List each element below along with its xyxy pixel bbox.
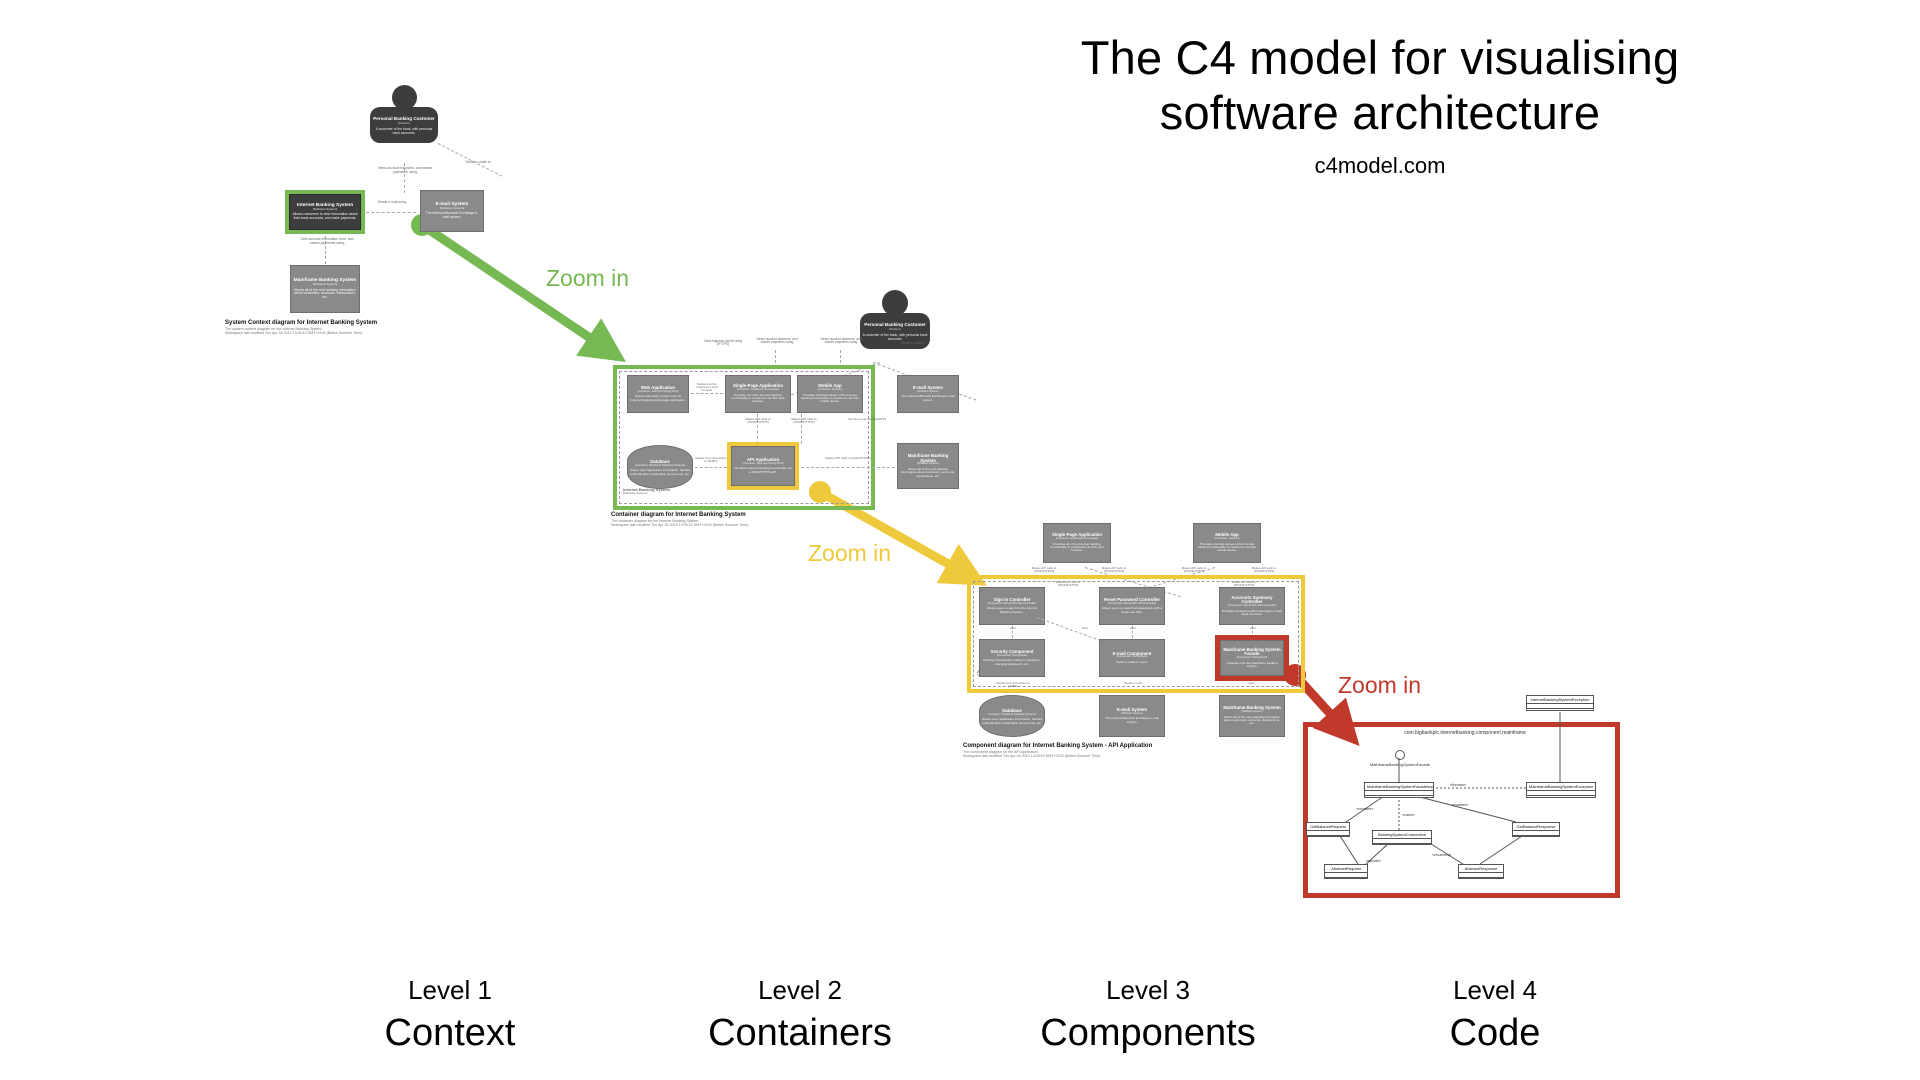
- box-type: [Container: Relational Database Schema]: [635, 464, 684, 467]
- rel-label-views-balances: Views account balances, and makes paymen…: [375, 167, 435, 174]
- box-type: [Container: Xamarin]: [818, 389, 843, 392]
- box-type: [Container: JavaScript and Angular]: [1056, 538, 1098, 541]
- level-name: Context: [320, 1012, 580, 1055]
- uml-class-mainframebankingsystemfacadeimpl[interactable]: MainframeBankingSystemFacadeImpl: [1364, 782, 1434, 798]
- uml-row: [1365, 796, 1433, 800]
- box-description: Sends e-mails to users.: [1116, 661, 1148, 664]
- uml-class-name: MainframeBankingSystemFacadeImpl: [1365, 783, 1433, 791]
- box-email-component[interactable]: E-mail Component [Component: Spring Bean…: [1099, 639, 1165, 677]
- rel-label-api-calls-mainframe: Makes API calls to [XML/HTTPS]: [821, 457, 875, 460]
- person-description: A customer of the bank, with personal ba…: [862, 333, 928, 341]
- rel-label-uses-5: Uses: [1241, 682, 1261, 685]
- rel-line-3: [366, 212, 416, 213]
- uml-rel-uses: «uses»: [1402, 812, 1415, 817]
- boundary-label-internet-banking-system: Internet Banking System [Software System…: [623, 488, 670, 496]
- box-web-application[interactable]: Web Application [Container: Java and Spr…: [627, 375, 689, 413]
- uml-class-abstractrequest[interactable]: AbstractRequest: [1324, 864, 1368, 879]
- level-number: Level 4: [1365, 975, 1625, 1006]
- person-body: Personal Banking Customer [Person] A cus…: [370, 107, 438, 143]
- rel-label-uses-1: Uses: [1003, 627, 1023, 630]
- box-type: [Software System]: [1241, 711, 1262, 714]
- uml-rel-sends: «sends»: [1366, 858, 1381, 863]
- box-description: The internal Microsoft Exchange e-mail s…: [1102, 717, 1162, 724]
- rel-label-api-4: Makes API calls to [JSON/HTTPS]: [1243, 567, 1285, 573]
- uml-row: [1325, 878, 1367, 882]
- caption-title: System Context diagram for Internet Bank…: [225, 320, 525, 326]
- uml-class-name: GetBalanceRequest: [1307, 823, 1349, 831]
- rel-label-sends-emails-to: Sends e-mails to: [450, 161, 506, 165]
- box-type: [Component: Spring MVC Rest Controller]: [988, 603, 1036, 606]
- uml-class-getbalanceresponse[interactable]: GetBalanceResponse: [1512, 822, 1560, 837]
- box-type: [Container: Relational Database Schema]: [988, 713, 1036, 716]
- box-type: [Container: Java and Spring MVC]: [638, 391, 679, 394]
- rel-label-delivers-to-browser: Delivers to the customer's web browser: [691, 383, 723, 393]
- box-type: [Component: Spring Bean]: [1237, 657, 1268, 660]
- uml-row: [1307, 836, 1349, 840]
- box-api-application-l2[interactable]: API Application [Container: Java and Spr…: [731, 446, 795, 486]
- box-description: Provides all of the Internet banking fun…: [1046, 543, 1108, 553]
- level3-caption: Component diagram for Internet Banking S…: [963, 743, 1303, 758]
- uml-row: [1373, 844, 1431, 848]
- rel-label-sends-emails-to-l2: Sends e-mails to: [889, 342, 937, 345]
- box-type: [Software System]: [313, 208, 337, 211]
- site-url: c4model.com: [1010, 153, 1750, 179]
- box-single-page-application-l3[interactable]: Single-Page Application [Container: Java…: [1043, 523, 1111, 563]
- box-description: Provides a limited subset of the Interne…: [1196, 543, 1258, 553]
- level-number: Level 2: [670, 975, 930, 1006]
- box-type: [Software System]: [1121, 713, 1142, 716]
- uml-class-mainframebankingsystemexception[interactable]: MainframeBankingSystemException: [1526, 782, 1596, 798]
- title-block: The C4 model for visualising software ar…: [1010, 30, 1750, 179]
- rel-label-uses-4: Uses: [1243, 627, 1263, 630]
- rel-label-uses-3: Uses: [1123, 627, 1143, 630]
- box-description: A facade onto the mainframe banking syst…: [1223, 662, 1281, 669]
- box-type: [Software System]: [440, 207, 464, 210]
- box-mobile-app-l3[interactable]: Mobile App [Container: Xamarin] Provides…: [1193, 523, 1261, 563]
- box-email-system-l3[interactable]: E-mail System [Software System] The inte…: [1099, 695, 1165, 737]
- uml-class-name: MainframeBankingSystemException: [1527, 783, 1595, 791]
- level2-caption: Container diagram for Internet Banking S…: [611, 512, 941, 527]
- rel-label-sends-email-using: Sends e-mail using: [370, 201, 414, 205]
- box-description: Delivers the static content and the Inte…: [630, 395, 686, 402]
- caption-sub2: Workspace last modified Thu Apr 04 2019 …: [611, 523, 941, 527]
- rel-label-api-1: Makes API calls to [JSON/HTTPS]: [1023, 567, 1065, 573]
- rel-label-reads-writes: Reads from and writes to [JDBC]: [695, 457, 727, 463]
- box-mainframe-banking-system-l3[interactable]: Mainframe Banking System [Software Syste…: [1219, 695, 1285, 737]
- rel-label-api-calls-2: Makes API calls to [JSON/HTTPS]: [781, 418, 827, 424]
- box-email-system-l1[interactable]: E-mail System [Software System] The inte…: [420, 190, 484, 232]
- box-type: [Component: Spring MVC Rest Controller]: [1108, 603, 1156, 606]
- level-name: Components: [1018, 1012, 1278, 1055]
- level1-context-diagram[interactable]: Personal Banking Customer [Person] A cus…: [270, 85, 560, 335]
- person-type: [Person]: [889, 327, 900, 331]
- rel-label-gets-account-info: Gets account information from, and makes…: [298, 238, 356, 245]
- rel-label-api-calls-1: Makes API calls to [JSON/HTTPS]: [735, 418, 781, 424]
- box-description: Provides all of the Internet banking fun…: [728, 394, 788, 404]
- box-description: The internal Microsoft Exchange e-mail s…: [423, 212, 481, 219]
- rel-line-h: [695, 467, 727, 468]
- box-description: Allows users to reset their passwords wi…: [1102, 607, 1162, 614]
- level-label-1: Level 1 Context: [320, 975, 580, 1055]
- box-type: [Component: Spring Bean]: [1117, 656, 1148, 659]
- boundary-type: [Software System]: [623, 492, 670, 495]
- box-description: Stores all of the core banking informati…: [293, 289, 357, 300]
- caption-title: Component diagram for Internet Banking S…: [963, 743, 1303, 749]
- level-number: Level 1: [320, 975, 580, 1006]
- uml-class-getbalancerequest[interactable]: GetBalanceRequest: [1306, 822, 1350, 837]
- uml-rel-receives: «receives»: [1432, 852, 1451, 857]
- caption-sub2: Workspace last modified Thu Apr 04 2019 …: [225, 331, 525, 335]
- box-description: Stores all of the core banking informati…: [1222, 716, 1282, 726]
- uml-class-name: GetBalanceResponse: [1513, 823, 1559, 831]
- box-type: [Software System]: [313, 283, 337, 286]
- uml-class-name: AbstractRequest: [1325, 865, 1367, 873]
- rel-label-visits-bigbank: Visits bigbank.com/ib using [HTTPS]: [701, 340, 745, 347]
- box-type: [Component: Spring MVC Rest Controller]: [1228, 605, 1276, 608]
- rel-label-reads-writes-l3: Reads from and writes to [JDBC]: [993, 682, 1033, 688]
- caption-title: Container diagram for Internet Banking S…: [611, 512, 941, 518]
- box-description: Provides customers with a summary of the…: [1222, 610, 1282, 617]
- level-label-2: Level 2 Containers: [670, 975, 930, 1055]
- uml-rel-parses: «parses»: [1452, 802, 1468, 807]
- box-type: [Software System]: [917, 463, 939, 466]
- box-mainframe-banking-system-l1[interactable]: Mainframe Banking System [Software Syste…: [290, 265, 360, 313]
- box-description: Stores user registration information, ha…: [630, 468, 690, 476]
- title-line-2: software architecture: [1010, 85, 1750, 140]
- box-single-page-application-l2[interactable]: Single-Page Application [Container: Java…: [725, 375, 791, 413]
- box-description: Provides a limited subset of the Interne…: [800, 394, 860, 404]
- box-description: Stores user registration information, ha…: [982, 717, 1042, 725]
- box-description: Provides functionality related to signin…: [982, 659, 1042, 666]
- level2-container-diagram[interactable]: Personal Banking Customer [Person] A cus…: [605, 290, 995, 535]
- rel-label-views-balances-1: Views account balances, and makes paymen…: [753, 338, 801, 345]
- rel-label-sends-email-l3: Sends e-mail: [1113, 682, 1153, 685]
- uml-row: [1527, 796, 1595, 800]
- level4-code-diagram[interactable]: InternetBankingSystemException com.bigba…: [1280, 700, 1650, 940]
- level-number: Level 3: [1018, 975, 1278, 1006]
- level1-caption: System Context diagram for Internet Bank…: [225, 320, 525, 335]
- zoom-in-label-l3-l4: Zoom in: [1338, 672, 1421, 699]
- rel-line-i: [801, 467, 895, 468]
- uml-class-abstractresponse[interactable]: AbstractResponse: [1458, 864, 1504, 879]
- box-type: [Container: JavaScript and Angular]: [737, 389, 779, 392]
- level-name: Code: [1365, 1012, 1625, 1055]
- caption-sub2: Workspace last modified Thu Apr 04 2019 …: [963, 754, 1303, 758]
- box-security-component[interactable]: Security Component [Component: Spring Be…: [979, 639, 1045, 677]
- person-description: A customer of the bank, with personal ba…: [372, 127, 436, 135]
- box-internet-banking-system[interactable]: Internet Banking System [Software System…: [289, 194, 361, 230]
- level-label-4: Level 4 Code: [1365, 975, 1625, 1055]
- box-database-l2[interactable]: Database [Container: Relational Database…: [627, 445, 693, 489]
- uml-rel-throws: «throws»: [1450, 782, 1466, 787]
- box-email-system-l2[interactable]: E-mail System [Software System] The inte…: [897, 375, 959, 413]
- rel-label-uses-2: Uses: [1075, 627, 1095, 630]
- box-mainframe-banking-system-l2[interactable]: Mainframe Banking System [Software Syste…: [897, 443, 959, 489]
- person-type: [Person]: [398, 121, 409, 125]
- box-accounts-summary-controller[interactable]: Accounts Summary Controller [Component: …: [1219, 587, 1285, 625]
- person-personal-banking-customer[interactable]: Personal Banking Customer [Person] A cus…: [370, 85, 438, 143]
- box-type: [Component: Spring Bean]: [997, 655, 1028, 658]
- box-type: [Container: Java and Spring MVC]: [743, 463, 784, 466]
- box-type: [Software System]: [917, 391, 939, 394]
- box-description: The internal Microsoft Exchange e-mail s…: [900, 395, 956, 402]
- uml-class-name: AbstractResponse: [1459, 865, 1503, 873]
- rel-line-e: [691, 393, 723, 394]
- uml-row: [1513, 836, 1559, 840]
- box-database-l3[interactable]: Database [Container: Relational Database…: [979, 695, 1045, 737]
- box-type: [Container: Xamarin]: [1215, 538, 1240, 541]
- box-reset-password-controller[interactable]: Reset Password Controller [Component: Sp…: [1099, 587, 1165, 625]
- box-description: Allows users to sign in to the Internet …: [982, 607, 1042, 614]
- box-mainframe-banking-system-facade[interactable]: Mainframe Banking System Facade [Compone…: [1220, 640, 1284, 676]
- uml-class-name: BankingSystemConnection: [1373, 831, 1431, 839]
- level-label-3: Level 3 Components: [1018, 975, 1278, 1055]
- box-description: Allows customers to view information abo…: [292, 213, 358, 220]
- zoom-in-label-l2-l3: Zoom in: [808, 540, 891, 567]
- box-sign-in-controller[interactable]: Sign In Controller [Component: Spring MV…: [979, 587, 1045, 625]
- uml-row: [1459, 878, 1503, 882]
- box-mobile-app-l2[interactable]: Mobile App [Container: Xamarin] Provides…: [797, 375, 863, 413]
- box-description: Stores all of the core banking informati…: [900, 468, 956, 478]
- uml-connector-lines: [1280, 700, 1650, 940]
- title-line-1: The C4 model for visualising: [1010, 30, 1750, 85]
- rel-label-views-balances-2: Views account balances, and makes paymen…: [817, 338, 865, 345]
- uml-rel-creates: «creates»: [1356, 806, 1374, 811]
- uml-class-bankingsystemconnection[interactable]: BankingSystemConnection: [1372, 830, 1432, 845]
- rel-label-sends-email-using-l2: Sends e-mail using [SMTP]: [845, 418, 889, 421]
- level-name: Containers: [670, 1012, 930, 1055]
- box-description: Provides Internet banking functionality …: [734, 467, 792, 474]
